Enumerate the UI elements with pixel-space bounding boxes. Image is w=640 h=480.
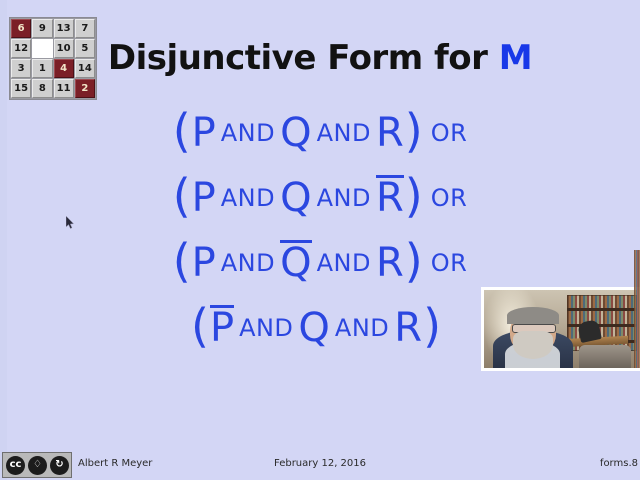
and-operator: AND bbox=[331, 316, 393, 340]
formula-block: ( P AND Q AND R ) OR ( P AND Q AND R ) O… bbox=[110, 100, 530, 360]
and-operator: AND bbox=[313, 186, 375, 210]
puzzle-tile: 9 bbox=[32, 19, 52, 38]
puzzle-tile: 13 bbox=[54, 19, 74, 38]
formula-line-1: ( P AND Q AND R ) OR bbox=[110, 100, 530, 165]
title-variable-m: M bbox=[499, 38, 532, 78]
close-paren: ) bbox=[405, 238, 423, 288]
puzzle-tile: 6 bbox=[11, 19, 31, 38]
and-operator: AND bbox=[217, 121, 279, 145]
literal-p: P bbox=[191, 243, 217, 283]
and-operator: AND bbox=[313, 251, 375, 275]
open-paren: ( bbox=[191, 303, 209, 353]
and-operator: AND bbox=[217, 251, 279, 275]
secondary-video-sliver[interactable] bbox=[634, 250, 640, 368]
or-operator: OR bbox=[423, 121, 468, 145]
chair bbox=[579, 345, 631, 368]
close-paren: ) bbox=[405, 173, 423, 223]
formula-line-4: ( P AND Q AND R ) bbox=[110, 295, 530, 360]
and-operator: AND bbox=[235, 316, 297, 340]
open-paren: ( bbox=[173, 173, 191, 223]
literal-p: P bbox=[191, 113, 217, 153]
literal-p: P bbox=[191, 178, 217, 218]
puzzle-tile: 11 bbox=[54, 79, 74, 98]
webcam-video-overlay[interactable] bbox=[481, 287, 640, 371]
video-frame bbox=[484, 290, 637, 368]
puzzle-tile: 7 bbox=[75, 19, 95, 38]
slide-title: Disjunctive Form for M bbox=[0, 38, 640, 78]
speaker-beard bbox=[513, 331, 553, 359]
and-operator: AND bbox=[217, 186, 279, 210]
literal-p-negated: P bbox=[209, 308, 235, 348]
close-paren: ) bbox=[423, 303, 441, 353]
puzzle-tile: 2 bbox=[75, 79, 95, 98]
literal-r: R bbox=[393, 308, 423, 348]
and-operator: AND bbox=[313, 121, 375, 145]
open-paren: ( bbox=[173, 238, 191, 288]
literal-q: Q bbox=[279, 178, 312, 218]
or-operator: OR bbox=[423, 186, 468, 210]
mouse-cursor bbox=[66, 216, 76, 230]
cc-by-label: BY bbox=[34, 469, 42, 475]
literal-r: R bbox=[375, 243, 405, 283]
slide-canvas: 6 9 13 7 12 10 5 3 1 4 14 15 8 11 2 Disj… bbox=[0, 0, 640, 480]
formula-line-2: ( P AND Q AND R ) OR bbox=[110, 165, 530, 230]
open-paren: ( bbox=[173, 108, 191, 158]
literal-q-negated: Q bbox=[279, 243, 312, 283]
literal-r: R bbox=[375, 113, 405, 153]
puzzle-tile: 15 bbox=[11, 79, 31, 98]
formula-line-3: ( P AND Q AND R ) OR bbox=[110, 230, 530, 295]
literal-q: Q bbox=[279, 113, 312, 153]
close-paren: ) bbox=[405, 108, 423, 158]
puzzle-tile: 8 bbox=[32, 79, 52, 98]
title-text: Disjunctive Form for bbox=[108, 38, 499, 78]
or-operator: OR bbox=[423, 251, 468, 275]
literal-r-negated: R bbox=[375, 178, 405, 218]
speaker-hair bbox=[507, 307, 559, 324]
slide-date: February 12, 2016 bbox=[0, 458, 640, 469]
document-reference: forms.8 bbox=[600, 458, 638, 469]
cc-sa-label: SA bbox=[56, 469, 64, 475]
literal-q: Q bbox=[297, 308, 330, 348]
slide-footer: cc ♢ BY ↻ SA Albert R Meyer February 12,… bbox=[0, 450, 640, 480]
